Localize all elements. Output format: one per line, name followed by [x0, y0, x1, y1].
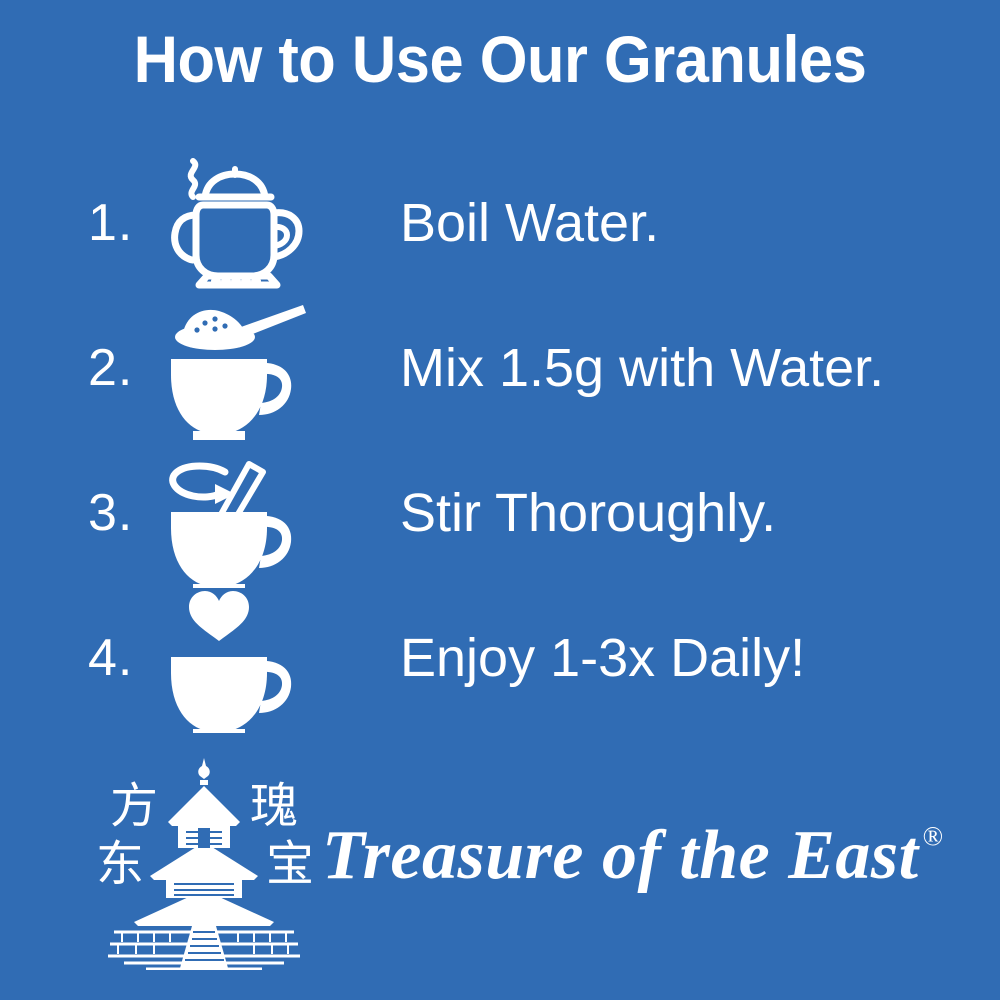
step-number: 2.	[88, 342, 158, 394]
teapot-icon	[158, 153, 318, 293]
logo-char-dong: 东	[96, 836, 144, 892]
step-label: Boil Water.	[400, 196, 1000, 250]
poster-canvas: How to Use Our Granules 1.	[0, 0, 1000, 1000]
step-number: 1.	[88, 197, 158, 249]
step-row: 3.	[0, 440, 1000, 585]
cup-with-spoon-icon	[158, 293, 318, 443]
step-row: 1.	[0, 150, 1000, 295]
cup-with-heart-icon	[158, 583, 318, 733]
registered-trademark-icon: ®	[923, 823, 944, 850]
brand-name: Treasure of the East	[322, 821, 919, 891]
step-row: 2.	[0, 295, 1000, 440]
brand-lockup: Treasure of the East ®	[322, 821, 943, 911]
steps-list: 1.	[0, 150, 1000, 730]
temple-of-heaven-logo: 方 瑰 东 宝	[88, 750, 320, 970]
logo-char-fang: 方	[110, 778, 158, 834]
cup-stirring-icon	[158, 438, 318, 588]
step-label: Enjoy 1-3x Daily!	[400, 631, 1000, 685]
step-row: 4. Enjoy 1-3x Daily!	[0, 585, 1000, 730]
step-number: 3.	[88, 487, 158, 539]
page-title: How to Use Our Granules	[35, 26, 965, 92]
step-label: Mix 1.5g with Water.	[400, 341, 1000, 395]
logo-char-gui: 瑰	[250, 778, 298, 834]
brand-footer: 方 瑰 东 宝	[0, 745, 1000, 985]
step-label: Stir Thoroughly.	[400, 486, 1000, 540]
step-number: 4.	[88, 632, 158, 684]
logo-char-bao: 宝	[266, 836, 314, 892]
